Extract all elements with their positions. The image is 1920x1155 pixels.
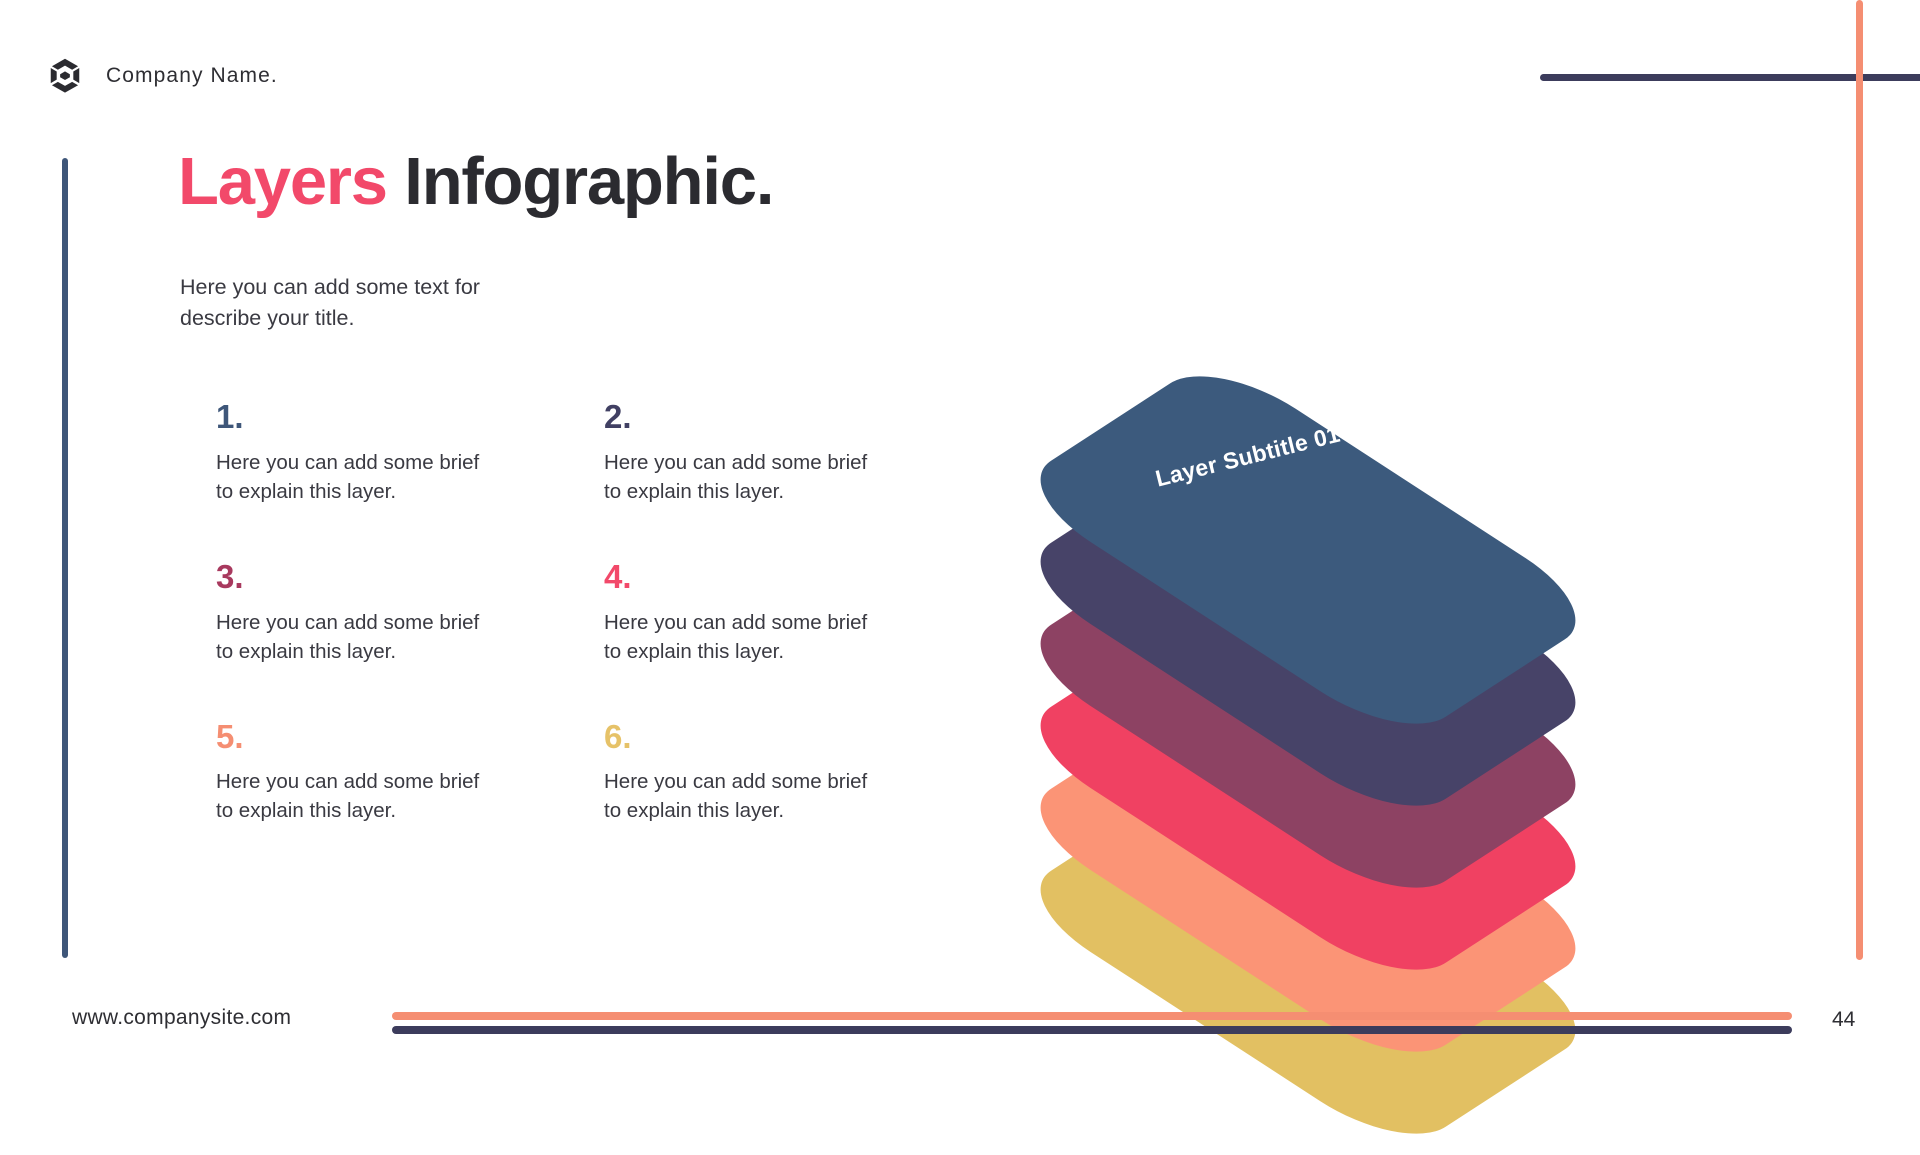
footer-url[interactable]: www.companysite.com <box>72 1006 291 1030</box>
page-title: Layers Infographic. <box>178 148 773 215</box>
item-number: 1. <box>216 400 486 435</box>
items-grid: 1. Here you can add some brief to explai… <box>216 400 916 826</box>
layer-01: Layer Subtitle 01 <box>960 290 1650 522</box>
right-coral-rule <box>1856 0 1863 960</box>
page-title-accent: Layers <box>178 144 387 219</box>
hexagon-cube-logo-icon <box>46 57 84 95</box>
item-number: 6. <box>604 720 874 755</box>
footer-navy-rule <box>392 1026 1792 1034</box>
lede-text: Here you can add some text for describe … <box>180 272 540 333</box>
item-text: Here you can add some brief to explain t… <box>604 608 874 666</box>
layer-stack-graphic: Layer Subtitle 06 Layer Subtitle 05 Laye… <box>960 120 1680 910</box>
item-text: Here you can add some brief to explain t… <box>216 608 486 666</box>
list-item: 2. Here you can add some brief to explai… <box>604 400 874 506</box>
item-number: 4. <box>604 560 874 595</box>
item-text: Here you can add some brief to explain t… <box>604 448 874 506</box>
list-item: 1. Here you can add some brief to explai… <box>216 400 486 506</box>
list-item: 6. Here you can add some brief to explai… <box>604 720 874 826</box>
item-text: Here you can add some brief to explain t… <box>216 767 486 825</box>
brand-name: Company Name. <box>106 64 278 88</box>
item-number: 5. <box>216 720 486 755</box>
item-text: Here you can add some brief to explain t… <box>604 767 874 825</box>
item-text: Here you can add some brief to explain t… <box>216 448 486 506</box>
item-number: 3. <box>216 560 486 595</box>
left-navy-rule <box>62 158 68 958</box>
list-item: 3. Here you can add some brief to explai… <box>216 560 486 666</box>
list-item: 5. Here you can add some brief to explai… <box>216 720 486 826</box>
footer-coral-rule <box>392 1012 1792 1020</box>
page-title-rest: Infographic. <box>387 144 773 219</box>
item-number: 2. <box>604 400 874 435</box>
page-number: 44 <box>1832 1008 1855 1032</box>
top-navy-rule <box>1540 74 1920 81</box>
brand: Company Name. <box>46 57 278 95</box>
slide: Company Name. Layers Infographic. Here y… <box>0 0 1920 1080</box>
list-item: 4. Here you can add some brief to explai… <box>604 560 874 666</box>
